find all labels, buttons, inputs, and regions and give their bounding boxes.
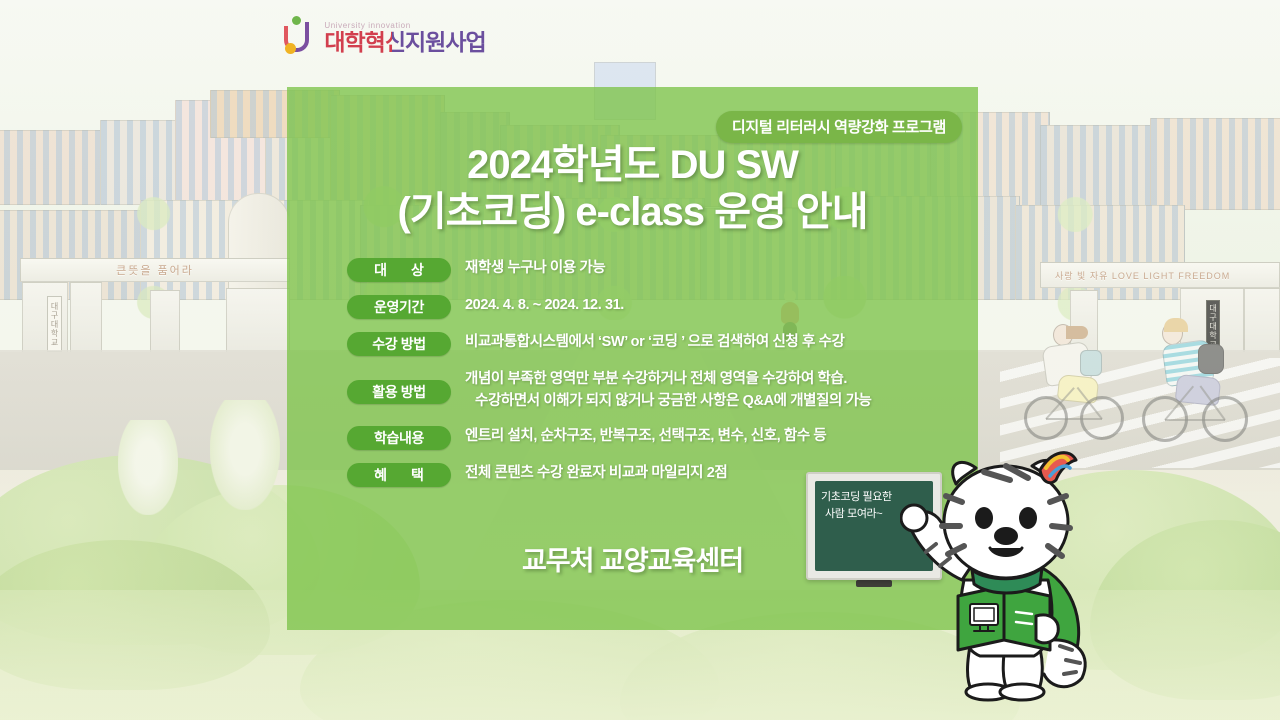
info-row: 운영기간 2024. 4. 8. ~ 2024. 12. 31. bbox=[347, 294, 947, 319]
info-table: 대 상 재학생 누구나 이용 가능 운영기간 2024. 4. 8. ~ 202… bbox=[347, 257, 947, 499]
info-row: 수강 방법 비교과통합시스템에서 ‘SW’ or ‘코딩 ’ 으로 검색하여 신… bbox=[347, 331, 947, 356]
poster-canvas: 큰뜻을 품어라 대구대학교 사랑 빛 자유 LOVE LIGHT FREEDOM… bbox=[0, 0, 1280, 720]
mascot-foot-right bbox=[1000, 684, 1044, 700]
bicycle-frame bbox=[1046, 418, 1102, 420]
mascot-nose bbox=[994, 527, 1018, 545]
info-label: 활용 방법 bbox=[347, 380, 451, 404]
info-label: 대 상 bbox=[347, 258, 451, 282]
info-row: 학습내용 엔트리 설치, 순차구조, 반복구조, 선택구조, 변수, 신호, 함… bbox=[347, 425, 947, 450]
logo-bar: University innovation 대학혁신지원사업 bbox=[0, 0, 1280, 70]
poster-title: 2024학년도 DU SW (기초코딩) e-class 운영 안내 bbox=[287, 142, 978, 236]
white-tiger-mascot bbox=[900, 440, 1110, 705]
title-line-2: (기초코딩) e-class 운영 안내 bbox=[287, 189, 978, 236]
cyclist-backpack bbox=[1080, 350, 1102, 376]
info-value: 개념이 부족한 영역만 부분 수강하거나 전체 영역을 수강하여 학습. bbox=[465, 368, 872, 390]
tree bbox=[118, 420, 178, 515]
cyclist-backpack bbox=[1198, 344, 1224, 374]
u-monogram-icon bbox=[284, 16, 318, 54]
mascot-eye-left bbox=[975, 507, 993, 529]
info-label: 학습내용 bbox=[347, 426, 451, 450]
university-innovation-logo: University innovation 대학혁신지원사업 bbox=[284, 16, 485, 54]
gate-left-pillar-sign: 대구대학교 bbox=[47, 296, 62, 352]
computer-screen bbox=[974, 608, 994, 621]
mascot-paw-right bbox=[1036, 615, 1058, 643]
info-label: 혜 택 bbox=[347, 463, 451, 487]
gate-right-text: 사랑 빛 자유 LOVE LIGHT FREEDOM bbox=[1055, 269, 1230, 282]
info-value: 재학생 누구나 이용 가능 bbox=[465, 257, 605, 279]
gate-left-text: 큰뜻을 품어라 bbox=[116, 262, 194, 278]
cyclist-right bbox=[1140, 316, 1265, 448]
info-value: 2024. 4. 8. ~ 2024. 12. 31. bbox=[465, 294, 624, 316]
cyclist-hair bbox=[1066, 326, 1088, 339]
badge-row: 디지털 리터러시 역량강화 프로그램 bbox=[716, 111, 962, 143]
tree bbox=[210, 400, 280, 510]
bicycle-frame bbox=[1165, 419, 1225, 421]
info-value-second-line: 수강하면서 이해가 되지 않거나 궁금한 사항은 Q&A에 개별질의 가능 bbox=[475, 390, 872, 412]
mascot-mouth bbox=[990, 548, 1022, 556]
info-value: 전체 콘텐츠 수강 완료자 비교과 마일리지 2점 bbox=[465, 462, 727, 484]
program-badge: 디지털 리터러시 역량강화 프로그램 bbox=[716, 111, 962, 143]
mascot-eye-right bbox=[1019, 507, 1037, 529]
logo-yellow-dot bbox=[285, 43, 296, 54]
logo-korean-text: 대학혁신지원사업 bbox=[324, 31, 485, 54]
info-label: 운영기간 bbox=[347, 295, 451, 319]
cyclist-hair bbox=[1164, 318, 1188, 332]
logo-u-right-stroke bbox=[295, 22, 309, 52]
info-value: 비교과통합시스템에서 ‘SW’ or ‘코딩 ’ 으로 검색하여 신청 후 수강 bbox=[465, 331, 844, 353]
info-row: 활용 방법 개념이 부족한 영역만 부분 수강하거나 전체 영역을 수강하여 학… bbox=[347, 368, 947, 413]
info-value: 엔트리 설치, 순차구조, 반복구조, 선택구조, 변수, 신호, 함수 등 bbox=[465, 425, 826, 447]
gate-wall-left-2 bbox=[70, 282, 102, 360]
info-value-group: 개념이 부족한 영역만 부분 수강하거나 전체 영역을 수강하여 학습. 수강하… bbox=[465, 368, 872, 413]
mascot-paw-raised bbox=[901, 505, 927, 531]
logo-text: University innovation 대학혁신지원사업 bbox=[324, 21, 485, 54]
info-row: 대 상 재학생 누구나 이용 가능 bbox=[347, 257, 947, 282]
blackboard-stand bbox=[856, 580, 892, 587]
gate-beam-right: 사랑 빛 자유 LOVE LIGHT FREEDOM bbox=[1040, 262, 1280, 288]
cyclist-left bbox=[1018, 318, 1138, 448]
title-line-1: 2024학년도 DU SW bbox=[287, 142, 978, 189]
info-label: 수강 방법 bbox=[347, 332, 451, 356]
gate-beam-left: 큰뜻을 품어라 bbox=[20, 258, 290, 282]
